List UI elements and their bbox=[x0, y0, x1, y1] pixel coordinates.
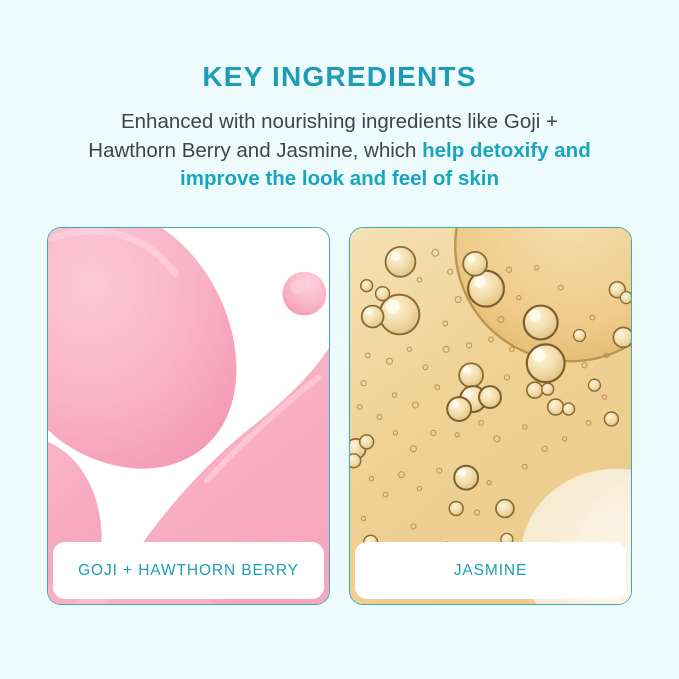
card-caption-goji-hawthorn-berry: GOJI + HAWTHORN BERRY bbox=[53, 542, 324, 599]
ingredient-cards-row: GOJI + HAWTHORN BERRY bbox=[47, 227, 632, 605]
subtitle-accent-1: help detoxify bbox=[422, 139, 548, 162]
subtitle-line-2: Hawthorn Berry and Jasmine, which bbox=[88, 139, 422, 162]
card-caption-label: JASMINE bbox=[454, 562, 527, 580]
key-ingredients-panel: KEY INGREDIENTS Enhanced with nourishing… bbox=[0, 0, 679, 679]
page-title: KEY INGREDIENTS bbox=[0, 60, 679, 94]
card-caption-jasmine: JASMINE bbox=[355, 542, 626, 599]
ingredient-card-jasmine[interactable]: JASMINE bbox=[349, 227, 632, 605]
subtitle-text: Enhanced with nourishing ingredients lik… bbox=[75, 108, 605, 194]
ingredient-card-goji-hawthorn-berry[interactable]: GOJI + HAWTHORN BERRY bbox=[47, 227, 330, 605]
subtitle-line-1: Enhanced with nourishing ingredients lik… bbox=[121, 110, 558, 133]
header-block: KEY INGREDIENTS Enhanced with nourishing… bbox=[0, 60, 679, 194]
card-caption-label: GOJI + HAWTHORN BERRY bbox=[78, 562, 299, 580]
